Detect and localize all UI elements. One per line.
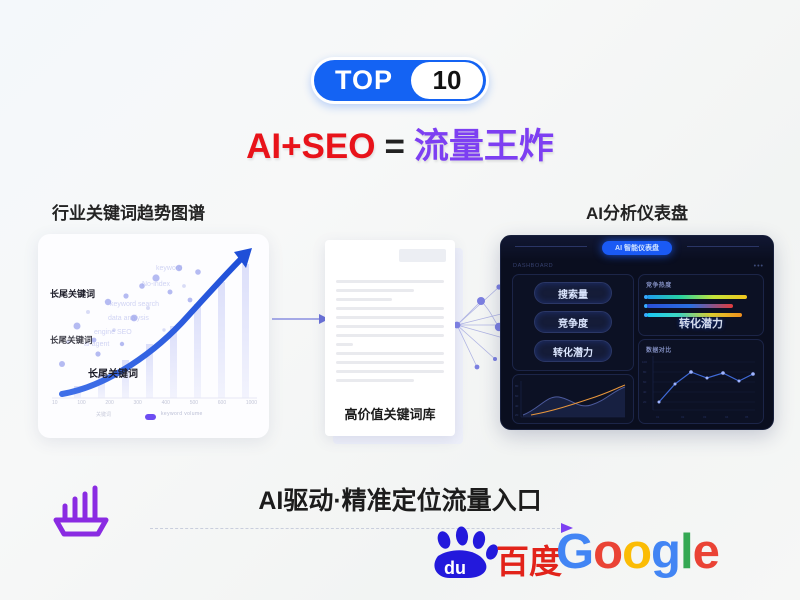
dashboard-area-chart: 8060 4020 [512,374,634,424]
right-section-caption: AI分析仪表盘 [586,199,688,224]
google-letter-l: l [680,525,693,579]
footer-tagline: AI驱动·精准定位流量入口 [0,481,800,517]
x-tick: 100 [77,400,85,406]
svg-text:data analysis: data analysis [108,315,149,322]
svg-text:01: 01 [656,415,660,419]
x-tick: 1000 [246,400,257,406]
svg-text:60: 60 [643,380,647,384]
document-text-lines [336,258,444,388]
flow-arrow-1 [272,312,330,326]
metric-pill-search-volume[interactable]: 搜索量 [534,282,612,304]
chart-legend-swatch [145,414,156,420]
svg-text:60: 60 [515,394,519,398]
gradient-bar-1 [647,295,747,299]
title-left: AI+SEO [246,127,375,166]
title-equals: = [384,127,404,166]
svg-text:40: 40 [643,390,647,394]
competition-panel-title: 竞争热度 [646,280,672,289]
svg-text:engine SEO: engine SEO [94,329,132,336]
dashboard-header: AI 智能仪表盘 [501,236,773,260]
dashboard-menu-icon[interactable]: ••• [754,263,764,270]
page-title: AI+SEO=流量王炸 [0,126,800,168]
svg-text:40: 40 [515,404,519,408]
title-right: 流量王炸 [414,127,554,166]
svg-text:keyword: keyword [156,265,182,272]
trend-chart-card: keywordNo-index keyword searchdata analy… [38,234,269,438]
x-tick: 200 [105,400,113,406]
google-letter-g: G [556,525,593,579]
google-logo[interactable]: Google [556,524,719,580]
metrics-panel: 搜索量 竞争度 转化潜力 [512,274,634,371]
conversion-overlay-text: 转化潜力 [639,315,763,331]
dashboard-subtitle: DASHBOARD [513,263,553,269]
top-rank-badge: TOP 10 [311,57,489,104]
baidu-wordmark: 百度 [496,543,562,580]
chart-x-axis-label: 关键词 [96,411,111,418]
header-line-left [515,246,587,247]
google-letter-o2: o [622,525,651,579]
svg-text:20: 20 [643,400,647,404]
header-line-right [687,246,759,247]
svg-text:02: 02 [681,415,685,419]
google-letter-g2: g [651,525,680,579]
svg-text:80: 80 [643,370,647,374]
x-tick: 10 [52,400,58,406]
keyword-label-2: 长尾关键词 [50,334,93,346]
svg-text:04: 04 [725,415,729,419]
x-tick: 600 [218,400,226,406]
keyword-label-3: 长尾关键词 [88,365,138,380]
competition-heat-panel: 竞争热度 转化潜力 [638,274,764,336]
document-caption: 高价值关键词库 [325,404,455,423]
svg-text:80: 80 [515,384,519,388]
left-section-caption: 行业关键词趋势图谱 [52,199,205,224]
svg-text:keyword search: keyword search [110,301,159,308]
slide-canvas: TOP 10 AI+SEO=流量王炸 行业关键词趋势图谱 AI分析仪表盘 [0,0,800,600]
dashboard-title-badge: AI 智能仪表盘 [602,241,672,255]
chart-legend-label: keyword volume [161,411,203,417]
area-chart-svg: 8060 4020 [513,375,633,423]
x-tick: 400 [162,400,170,406]
ai-dashboard-panel: AI 智能仪表盘 DASHBOARD ••• 搜索量 竞争度 转化潜力 8060… [500,235,774,430]
svg-text:03: 03 [703,415,707,419]
keyword-label-1: 长尾关键词 [50,287,95,300]
comparison-panel-title: 数据对比 [646,345,672,354]
svg-text:No-index: No-index [142,281,171,288]
data-comparison-panel: 数据对比 10080 604020 [638,339,764,424]
chart-x-axis: 10 100 200 300 400 500 600 1000 [52,400,257,406]
svg-text:05: 05 [745,415,749,419]
top-badge-label: TOP [335,67,393,94]
baidu-logo[interactable]: du 百度 [424,526,564,582]
svg-text:20: 20 [515,413,519,417]
x-tick: 300 [134,400,142,406]
google-letter-o1: o [593,525,622,579]
metric-pill-conversion[interactable]: 转化潜力 [534,340,612,362]
gradient-bar-2 [647,304,733,308]
metric-pill-competition[interactable]: 竞争度 [534,311,612,333]
google-letter-e: e [693,525,719,579]
svg-text:du: du [444,558,466,578]
svg-text:100: 100 [642,360,647,364]
top-badge-number: 10 [411,62,483,99]
x-tick: 500 [190,400,198,406]
